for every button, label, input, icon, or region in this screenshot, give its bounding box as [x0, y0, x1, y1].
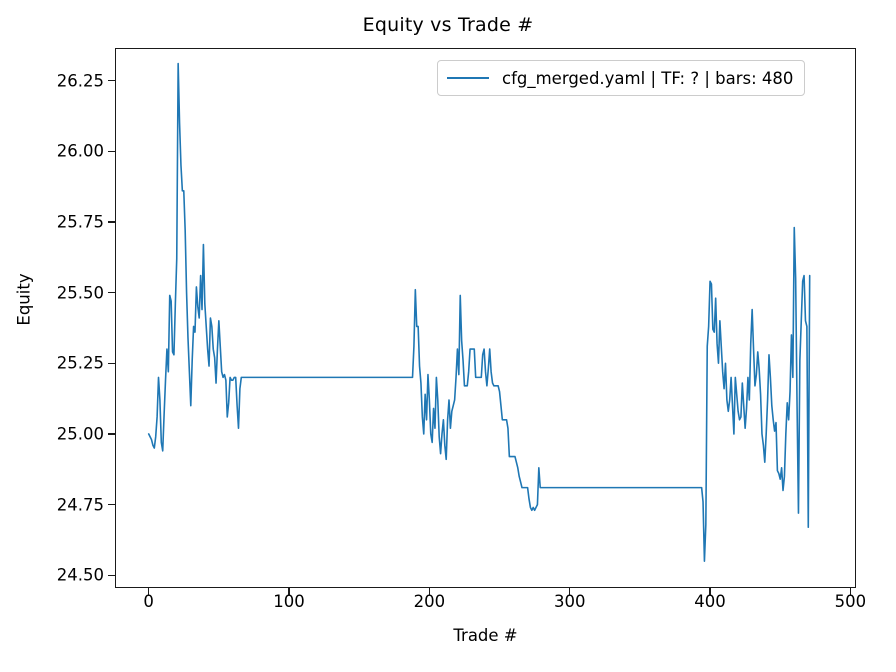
y-tick-mark	[108, 80, 115, 81]
x-tick-label: 300	[554, 592, 586, 611]
y-tick-mark	[108, 292, 115, 293]
chart-title: Equity vs Trade #	[0, 14, 896, 36]
legend-entry-label: cfg_merged.yaml | TF: ? | bars: 480	[502, 69, 793, 88]
y-tick-mark	[108, 221, 115, 222]
x-tick-label: 0	[143, 592, 154, 611]
y-axis-tick-marks	[0, 48, 115, 588]
equity-series-line	[149, 64, 810, 562]
y-tick-mark	[108, 363, 115, 364]
x-tick-label: 500	[835, 592, 867, 611]
y-tick-mark	[108, 575, 115, 576]
x-axis-tick-labels: 0100200300400500	[115, 592, 856, 622]
x-axis-label: Trade #	[115, 626, 856, 645]
y-tick-mark	[108, 504, 115, 505]
x-tick-label: 100	[273, 592, 305, 611]
legend-line-swatch-icon	[447, 77, 489, 79]
x-tick-label: 200	[414, 592, 446, 611]
equity-line-plot	[115, 48, 856, 588]
x-tick-label: 400	[694, 592, 726, 611]
y-tick-mark	[108, 151, 115, 152]
chart-figure: Equity vs Trade # Equity 24.5024.7525.00…	[0, 0, 896, 672]
y-tick-mark	[108, 433, 115, 434]
chart-legend[interactable]: cfg_merged.yaml | TF: ? | bars: 480	[437, 60, 805, 96]
